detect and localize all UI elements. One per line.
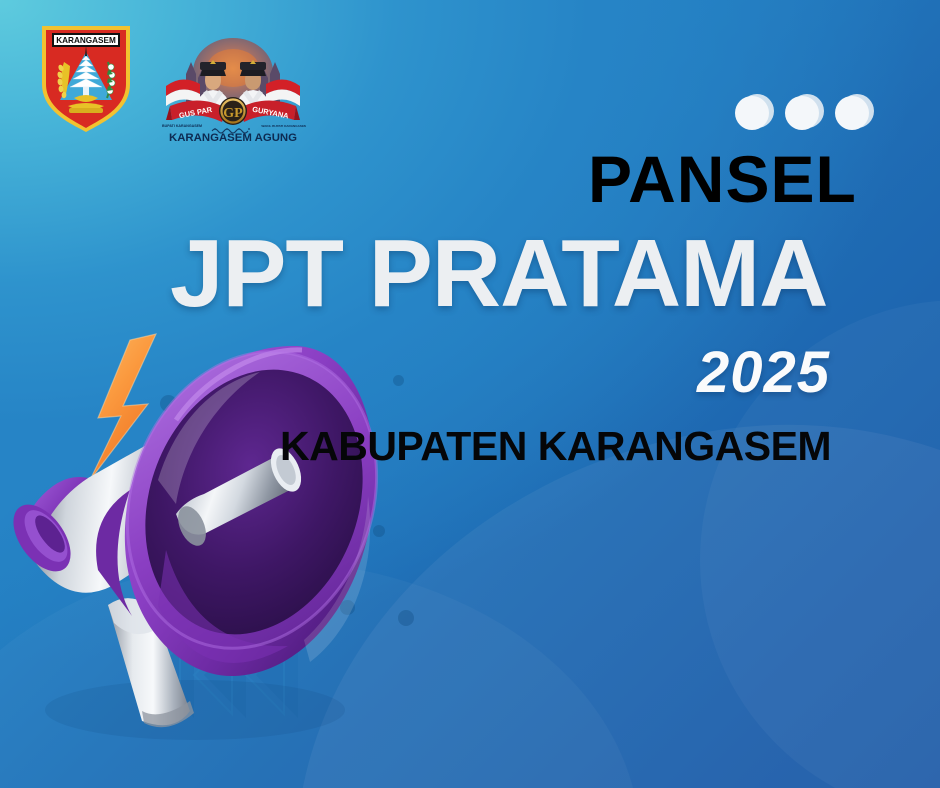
decor-dot-1 xyxy=(735,94,771,130)
headline-kabupaten: KABUPATEN KARANGASEM xyxy=(280,426,831,467)
karangasem-agung-logo: GUS PAR GURYANA BUPATI KARANGASEM WAKIL … xyxy=(160,28,306,144)
leader-right-role: WAKIL BUPATI KARANGASEM xyxy=(261,124,306,128)
decor-dot-2 xyxy=(785,94,821,130)
megaphone-illustration xyxy=(0,300,460,770)
decor-dot-3 xyxy=(835,94,871,130)
svg-text:GP: GP xyxy=(223,106,243,121)
crest-banner-text: KARANGASEM xyxy=(56,36,116,45)
leader-left-role: BUPATI KARANGASEM xyxy=(162,124,202,128)
headline-year: 2025 xyxy=(697,344,830,402)
program-logo-title: KARANGASEM AGUNG xyxy=(169,132,297,144)
karangasem-regency-crest-logo: KARANGASEM xyxy=(38,22,134,134)
decorative-dots-row xyxy=(735,92,870,136)
headline-pansel: PANSEL xyxy=(588,146,857,212)
poster-canvas: KARANGASEM xyxy=(0,0,940,788)
gp-monogram: GP xyxy=(219,97,247,125)
headline-jpt-pratama: JPT PRATAMA xyxy=(170,226,827,322)
